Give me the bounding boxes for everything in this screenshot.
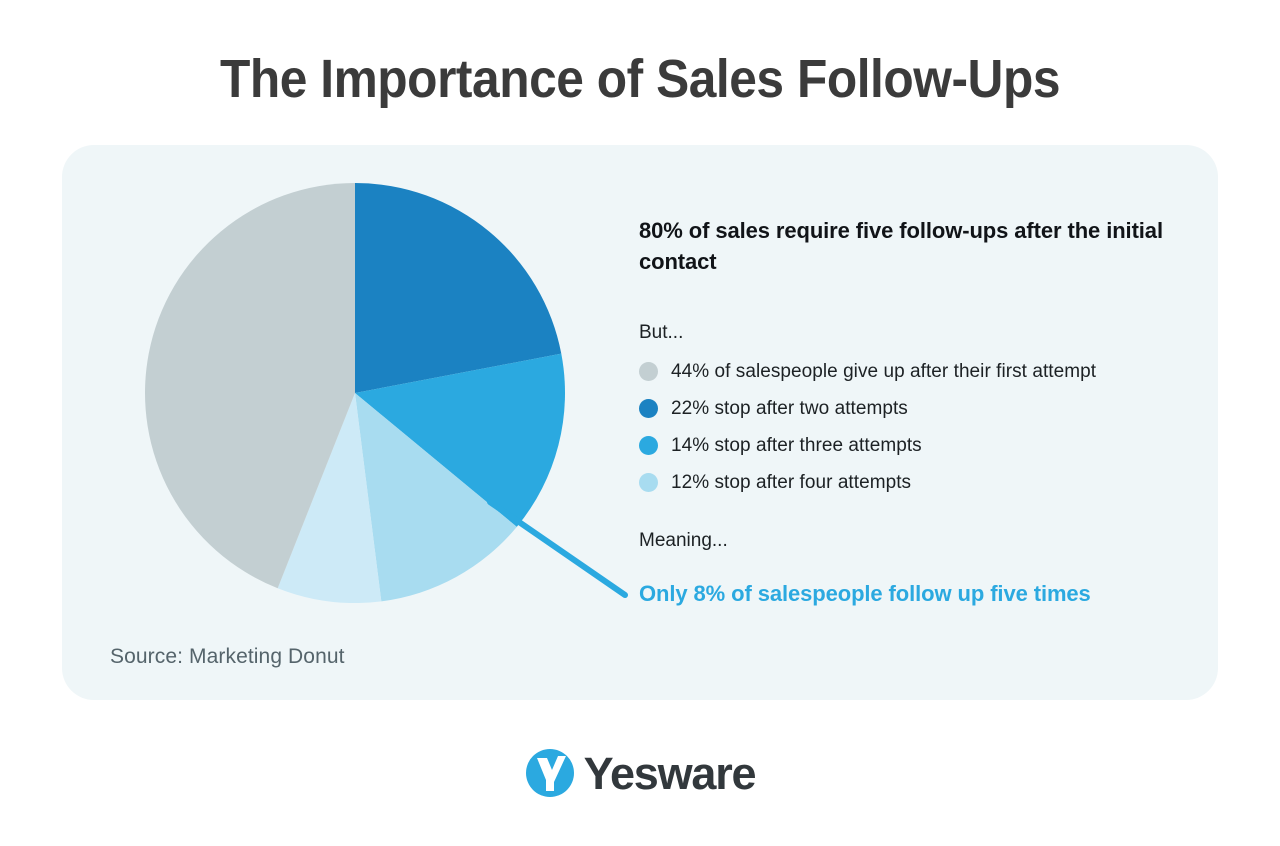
yesware-y-logo-icon — [525, 748, 575, 798]
legend-item-label: 44% of salespeople give up after their f… — [671, 361, 1096, 383]
page-title: The Importance of Sales Follow-Ups — [51, 48, 1229, 110]
pie-chart — [145, 183, 565, 603]
pie-slice-group — [145, 183, 565, 603]
source-note: Source: Marketing Donut — [110, 645, 345, 669]
legend-item: 12% stop after four attempts — [639, 464, 1184, 501]
legend-item: 22% stop after two attempts — [639, 390, 1184, 427]
legend-color-swatch-icon — [639, 436, 658, 455]
but-label: But... — [639, 322, 1184, 344]
chart-legend: 44% of salespeople give up after their f… — [639, 353, 1184, 501]
info-column: 80% of sales require five follow-ups aft… — [639, 215, 1184, 610]
legend-item: 44% of salespeople give up after their f… — [639, 353, 1184, 390]
legend-item-label: 14% stop after three attempts — [671, 435, 922, 457]
legend-color-swatch-icon — [639, 362, 658, 381]
pie-chart-svg — [145, 183, 565, 603]
legend-item: 14% stop after three attempts — [639, 427, 1184, 464]
infographic-card: Source: Marketing Donut 80% of sales req… — [62, 145, 1218, 700]
conclusion-callout-text: Only 8% of salespeople follow up five ti… — [639, 578, 1184, 609]
meaning-label: Meaning... — [639, 530, 1184, 552]
legend-item-label: 12% stop after four attempts — [671, 472, 911, 494]
headline-text: 80% of sales require five follow-ups aft… — [639, 215, 1184, 277]
legend-item-label: 22% stop after two attempts — [671, 398, 908, 420]
legend-color-swatch-icon — [639, 473, 658, 492]
brand-name: Yesware — [584, 751, 756, 796]
footer-brand: Yesware — [0, 748, 1280, 798]
legend-color-swatch-icon — [639, 399, 658, 418]
